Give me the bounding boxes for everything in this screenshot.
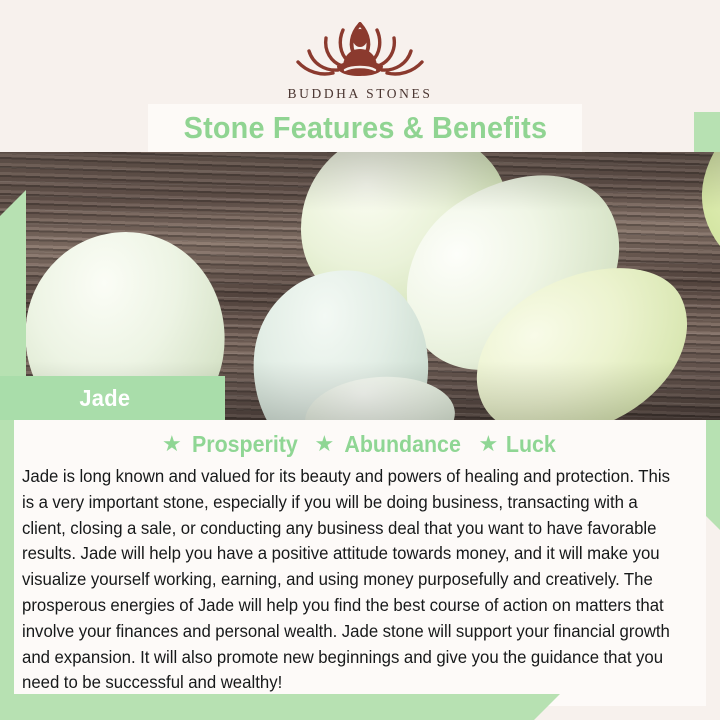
brand-logo: BUDDHA STONES <box>285 10 435 102</box>
page-title: Stone Features & Benefits <box>183 110 547 146</box>
keyword-item: ★ Prosperity <box>162 431 302 458</box>
section-title-banner: Stone Features & Benefits <box>148 104 582 152</box>
star-icon: ★ <box>479 433 499 455</box>
brand-header: BUDDHA STONES <box>0 0 720 112</box>
keyword-label: Prosperity <box>192 431 298 458</box>
keyword-label: Abundance <box>345 431 461 458</box>
stone-name-band: Jade <box>0 376 225 420</box>
keyword-list: ★ Prosperity ★ Abundance ★ Luck <box>14 426 706 462</box>
star-icon: ★ <box>162 433 182 455</box>
description-paragraph: Jade is long known and valued for its be… <box>22 464 674 696</box>
description-card: ★ Prosperity ★ Abundance ★ Luck Jade is … <box>14 420 706 706</box>
keyword-item: ★ Abundance <box>315 431 466 458</box>
frame-accent-bottom <box>0 694 560 720</box>
star-icon: ★ <box>315 433 335 455</box>
keyword-item: ★ Luck <box>479 431 558 458</box>
stone-name: Jade <box>79 385 130 412</box>
lotus-meditation-icon <box>285 10 435 84</box>
infographic-page: BUDDHA STONES Stone Features & Benefits … <box>0 0 720 720</box>
brand-name: BUDDHA STONES <box>288 86 433 102</box>
keyword-label: Luck <box>506 431 556 458</box>
